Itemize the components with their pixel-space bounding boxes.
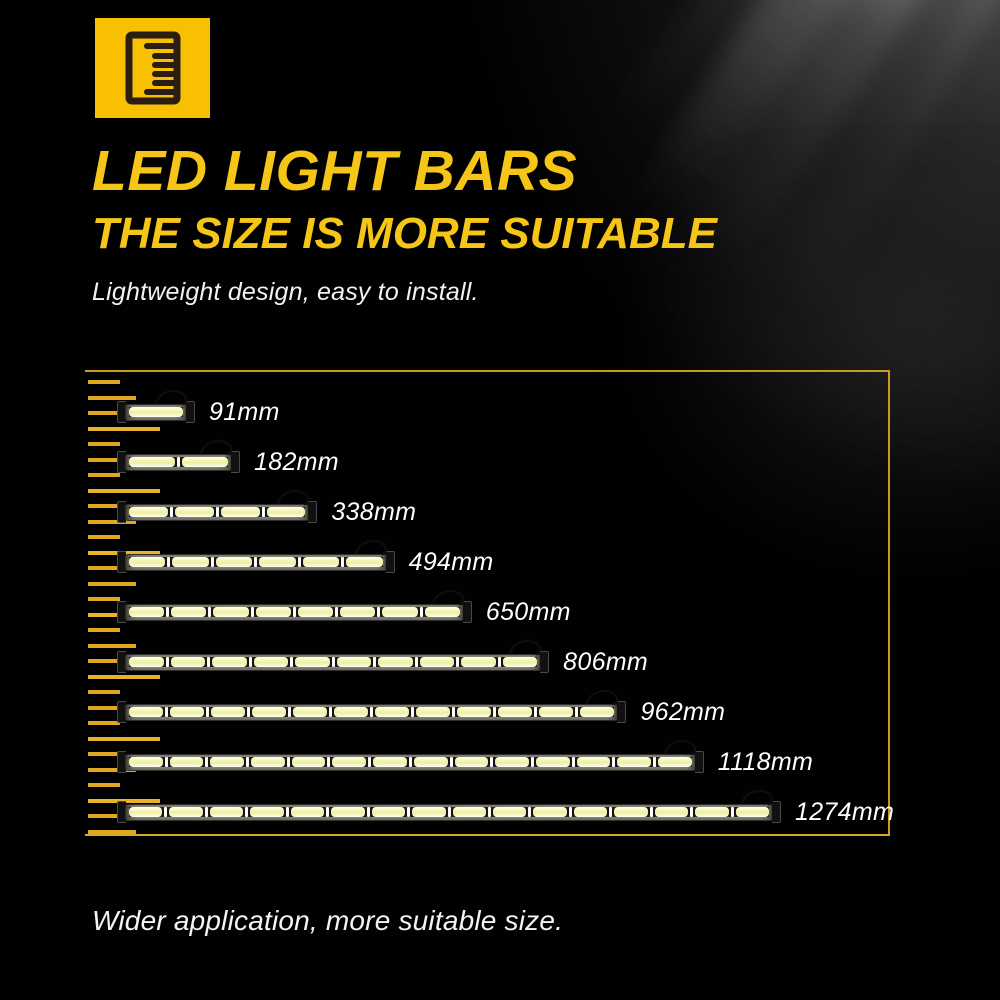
led-segment [375,707,409,717]
led-segment [221,507,260,517]
light-ray [586,0,1000,334]
led-segment [182,457,228,467]
led-segment-divider [251,607,254,617]
led-light-bar [125,697,618,727]
power-cable [664,738,698,754]
led-light-bar [125,447,232,477]
led-segment-divider [332,657,335,667]
led-segment [461,657,496,667]
led-segment-divider [254,557,257,567]
led-bar-row: 91mm [125,392,280,432]
power-cable [355,538,389,554]
power-cable [741,788,775,804]
led-bar-row: 182mm [125,442,339,482]
led-segment-divider [298,557,301,567]
led-segment-divider [367,807,370,817]
led-segment [577,757,611,767]
ruler-tick [88,814,120,818]
led-segment [171,657,206,667]
led-segment-divider [377,607,380,617]
ruler-tick [88,597,120,601]
led-segment-divider [448,807,451,817]
led-segment-divider [245,807,248,817]
led-segment-divider [327,757,330,767]
led-segment [378,657,413,667]
led-segment-divider [690,807,693,817]
size-chart: 91mm182mm338mm494mm650mm806mm962mm1118mm… [85,370,890,836]
led-segment-divider [216,507,219,517]
led-segment [493,807,526,817]
cob-led-strip [129,507,305,517]
mounting-bracket-right [772,801,781,823]
power-cable [509,638,543,654]
led-segment [453,807,486,817]
led-segment-divider [335,607,338,617]
mounting-bracket-right [186,401,195,423]
led-bar-row: 806mm [125,642,648,682]
logo-badge [95,18,210,118]
led-segment [295,657,330,667]
led-segment [252,707,286,717]
led-segment [457,707,491,717]
led-segment [291,807,324,817]
led-segment [736,807,769,817]
led-segment [372,807,405,817]
led-segment [254,657,289,667]
size-label: 806mm [563,648,648,677]
led-segment-divider [165,757,168,767]
led-segment [655,807,688,817]
led-segment [337,657,372,667]
size-label: 338mm [331,498,416,527]
led-segment-divider [407,807,410,817]
led-segment-divider [262,507,265,517]
led-segment [175,507,214,517]
led-segment-divider [653,757,656,767]
led-segment-divider [420,607,423,617]
bar-housing [125,404,187,421]
light-ray [579,0,1000,400]
led-segment [412,807,445,817]
led-segment [210,757,244,767]
led-segment-divider [572,757,575,767]
ruler-tick [88,442,120,446]
led-segment [416,707,450,717]
led-segment-divider [531,757,534,767]
size-label: 182mm [254,448,339,477]
led-segment [169,807,202,817]
ruler-tick [88,504,120,508]
led-segment [495,757,529,767]
led-segment [129,457,175,467]
cob-led-strip [129,757,692,767]
led-segment [346,557,382,567]
led-segment-divider [411,707,414,717]
led-segment-divider [368,757,371,767]
page-subtitle: THE SIZE IS MORE SUITABLE [92,212,717,256]
bar-housing [125,704,618,721]
led-light-bar [125,497,309,527]
bar-housing [125,654,541,671]
led-segment-divider [293,607,296,617]
led-segment [171,607,206,617]
led-segment-divider [247,707,250,717]
led-segment [373,757,407,767]
led-segment [213,607,248,617]
led-segment [617,757,651,767]
size-label: 650mm [486,598,571,627]
led-segment [292,757,326,767]
power-cable [432,588,466,604]
led-segment-divider [341,557,344,567]
led-segment [503,657,538,667]
led-segment [129,407,183,417]
ruler-tick [88,380,120,384]
led-segment-divider [528,807,531,817]
led-segment [293,707,327,717]
led-segment-divider [490,757,493,767]
led-segment [170,757,204,767]
led-segment [455,757,489,767]
led-segment-divider [373,657,376,667]
led-segment [420,657,455,667]
led-segment [129,507,168,517]
led-segment-divider [534,707,537,717]
led-segment-divider [167,557,170,567]
ruler-tick [88,690,120,694]
led-segment-divider [575,707,578,717]
led-segment-divider [286,807,289,817]
led-segment-divider [488,807,491,817]
led-segment-divider [452,707,455,717]
led-bar-row: 494mm [125,542,494,582]
led-segment-divider [207,657,210,667]
led-segment [539,707,573,717]
led-segment-divider [650,807,653,817]
led-segment [533,807,566,817]
led-segment [170,707,204,717]
size-label: 1274mm [795,798,894,827]
mounting-bracket-right [463,601,472,623]
led-segment [129,557,165,567]
led-segment [580,707,614,717]
chart-border-right [888,370,890,836]
cob-led-strip [129,707,614,717]
led-segment [251,757,285,767]
mounting-bracket-right [231,451,240,473]
led-segment [695,807,728,817]
chart-border-top [85,370,890,372]
size-label: 962mm [640,698,725,727]
led-segment [129,657,164,667]
led-segment-divider [456,657,459,667]
led-segment [129,607,164,617]
led-segment [303,557,339,567]
led-segment-divider [370,707,373,717]
bar-housing [125,754,696,771]
mounting-bracket-right [386,551,395,573]
ruler-tick [88,783,120,787]
led-segment-divider [166,607,169,617]
led-segment [382,607,417,617]
led-segment-divider [211,557,214,567]
light-ray [826,0,1000,344]
led-segment-divider [498,657,501,667]
led-segment-divider [287,757,290,767]
led-segment-divider [409,757,412,767]
bar-housing [125,554,387,571]
led-segment [536,757,570,767]
led-segment-divider [612,757,615,767]
led-light-bar [125,747,696,777]
size-label: 494mm [409,548,494,577]
footer-tagline: Wider application, more suitable size. [92,905,563,937]
ruler-tick [88,566,120,570]
cob-led-strip [129,657,537,667]
led-bar-row: 650mm [125,592,571,632]
mounting-bracket-right [617,701,626,723]
led-segment-divider [415,657,418,667]
led-segment [298,607,333,617]
ruler-tick [88,752,120,756]
size-label: 91mm [209,398,280,427]
light-ray [568,0,880,179]
led-light-bar [125,647,541,677]
cob-led-strip [129,407,183,417]
size-label: 1118mm [718,748,813,777]
led-segment-divider [206,707,209,717]
led-segment-divider [450,757,453,767]
bar-housing [125,454,232,471]
led-segment-divider [205,807,208,817]
led-segment-divider [166,657,169,667]
led-segment [216,557,252,567]
ruler-tick [88,721,120,725]
led-segment [658,757,692,767]
led-segment [334,707,368,717]
ruler-tick [88,411,120,415]
led-segment [259,557,295,567]
ruler-tick [88,628,120,632]
ruler-tick [88,737,160,741]
led-segment-divider [493,707,496,717]
led-segment [211,707,245,717]
led-segment-divider [609,807,612,817]
bar-housing [125,604,464,621]
led-segment [129,757,163,767]
product-infographic: LED LIGHT BARS THE SIZE IS MORE SUITABLE… [0,0,1000,1000]
power-cable [277,488,311,504]
led-segment [172,557,208,567]
power-cable [200,438,234,454]
cob-led-strip [129,607,460,617]
mounting-bracket-right [308,501,317,523]
ruler-tick [88,582,136,586]
led-segment-divider [326,807,329,817]
page-title: LED LIGHT BARS [92,143,577,200]
led-segment [414,757,448,767]
cob-led-strip [129,457,228,467]
led-segment-divider [569,807,572,817]
ruler-tick [88,473,120,477]
led-light-bar [125,547,387,577]
led-bar-row: 1118mm [125,742,813,782]
led-bar-row: 1274mm [125,792,894,832]
led-light-bar [125,797,773,827]
led-segment [256,607,291,617]
led-segment [574,807,607,817]
ruler-tick [88,535,120,539]
led-segment-divider [290,657,293,667]
led-segment [331,807,364,817]
header-tagline: Lightweight design, easy to install. [92,278,479,307]
led-segment [210,807,243,817]
chart-border-bottom [85,834,890,836]
led-segment [250,807,283,817]
led-bar-row: 338mm [125,492,416,532]
led-segment [129,707,163,717]
led-segment-divider [731,807,734,817]
led-light-bar [125,597,464,627]
led-segment-divider [170,507,173,517]
cob-led-strip [129,807,769,817]
led-segment-divider [205,757,208,767]
led-segment [212,657,247,667]
bar-housing [125,804,773,821]
led-segment [425,607,460,617]
ruler-tick [88,659,120,663]
led-bar-row: 962mm [125,692,725,732]
cob-led-strip [129,557,383,567]
led-segment [332,757,366,767]
led-light-bar [125,397,187,427]
bar-housing [125,504,309,521]
led-segment [340,607,375,617]
led-segment-divider [177,457,180,467]
led-segment [614,807,647,817]
power-cable [586,688,620,704]
led-segment [129,807,162,817]
led-segment [267,507,306,517]
mounting-bracket-right [540,651,549,673]
led-segment-divider [246,757,249,767]
led-segment-divider [165,707,168,717]
led-segment-divider [329,707,332,717]
mounting-bracket-right [695,751,704,773]
led-segment-divider [288,707,291,717]
led-segment-divider [249,657,252,667]
ruler-icon [125,31,181,105]
led-segment-divider [208,607,211,617]
led-segment-divider [164,807,167,817]
led-segment [498,707,532,717]
